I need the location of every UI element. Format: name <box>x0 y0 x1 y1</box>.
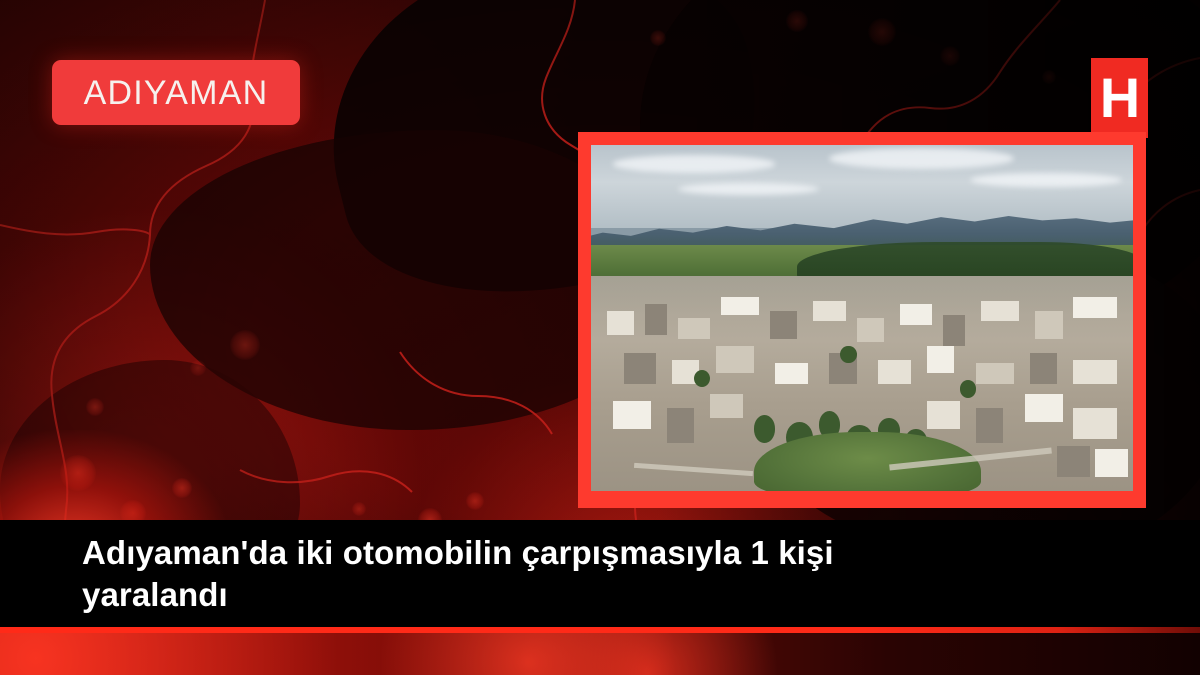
province-badge-label: ADIYAMAN <box>84 76 269 110</box>
headline-band: Adıyaman'da iki otomobilin çarpışmasıyla… <box>0 520 1200 627</box>
photo-cloud <box>970 173 1122 187</box>
news-photo <box>591 145 1133 491</box>
province-badge: ADIYAMAN <box>52 60 300 125</box>
headline-text: Adıyaman'da iki otomobilin çarpışmasıyla… <box>0 532 1080 615</box>
logo-letter: H <box>1100 70 1139 126</box>
photo-cloud <box>678 183 819 195</box>
news-photo-frame <box>578 132 1146 508</box>
accent-bar <box>0 627 1200 633</box>
haberler-h-logo[interactable]: H <box>1091 58 1148 138</box>
news-card: ADIYAMAN H <box>0 0 1200 675</box>
bottom-strip <box>0 633 1200 675</box>
photo-cloud <box>613 155 776 172</box>
